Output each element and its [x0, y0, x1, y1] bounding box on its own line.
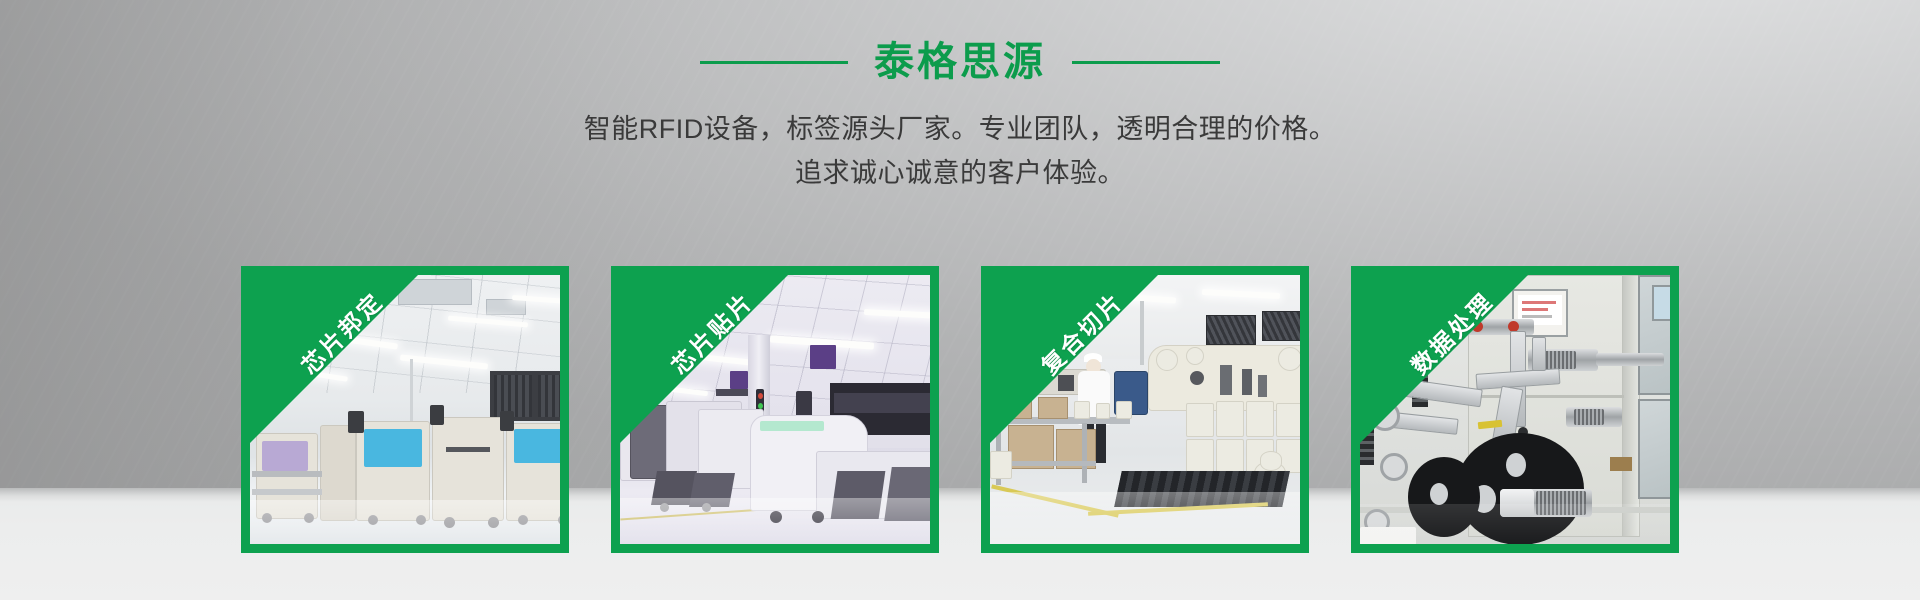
- title-rule-right: [1072, 61, 1220, 64]
- chip-bonding-workshop-image: [250, 275, 560, 544]
- brand-title-row: 泰格思源: [0, 42, 1920, 82]
- data-processing-machine-image: [1360, 275, 1670, 544]
- capability-card[interactable]: 复合切片: [981, 266, 1309, 553]
- capability-card[interactable]: 芯片邦定: [241, 266, 569, 553]
- card-photo: [620, 275, 930, 544]
- smt-workshop-image: [620, 275, 930, 544]
- composite-slitting-workshop-image: [990, 275, 1300, 544]
- tagline: 智能RFID设备，标签源头厂家。专业团队，透明合理的价格。 追求诚心诚意的客户体…: [0, 108, 1920, 195]
- card-photo: [990, 275, 1300, 544]
- card-photo: [250, 275, 560, 544]
- capability-card-list: 芯片邦定: [0, 266, 1920, 553]
- capability-card[interactable]: 芯片贴片: [611, 266, 939, 553]
- card-photo: [1360, 275, 1670, 544]
- page-title: 泰格思源: [874, 42, 1046, 82]
- tagline-line-2: 追求诚心诚意的客户体验。: [0, 152, 1920, 196]
- capability-card[interactable]: 数据处理: [1351, 266, 1679, 553]
- hero-banner: 泰格思源 智能RFID设备，标签源头厂家。专业团队，透明合理的价格。 追求诚心诚…: [0, 0, 1920, 600]
- title-rule-left: [700, 61, 848, 64]
- hero-header: 泰格思源 智能RFID设备，标签源头厂家。专业团队，透明合理的价格。 追求诚心诚…: [0, 0, 1920, 195]
- tagline-line-1: 智能RFID设备，标签源头厂家。专业团队，透明合理的价格。: [0, 108, 1920, 152]
